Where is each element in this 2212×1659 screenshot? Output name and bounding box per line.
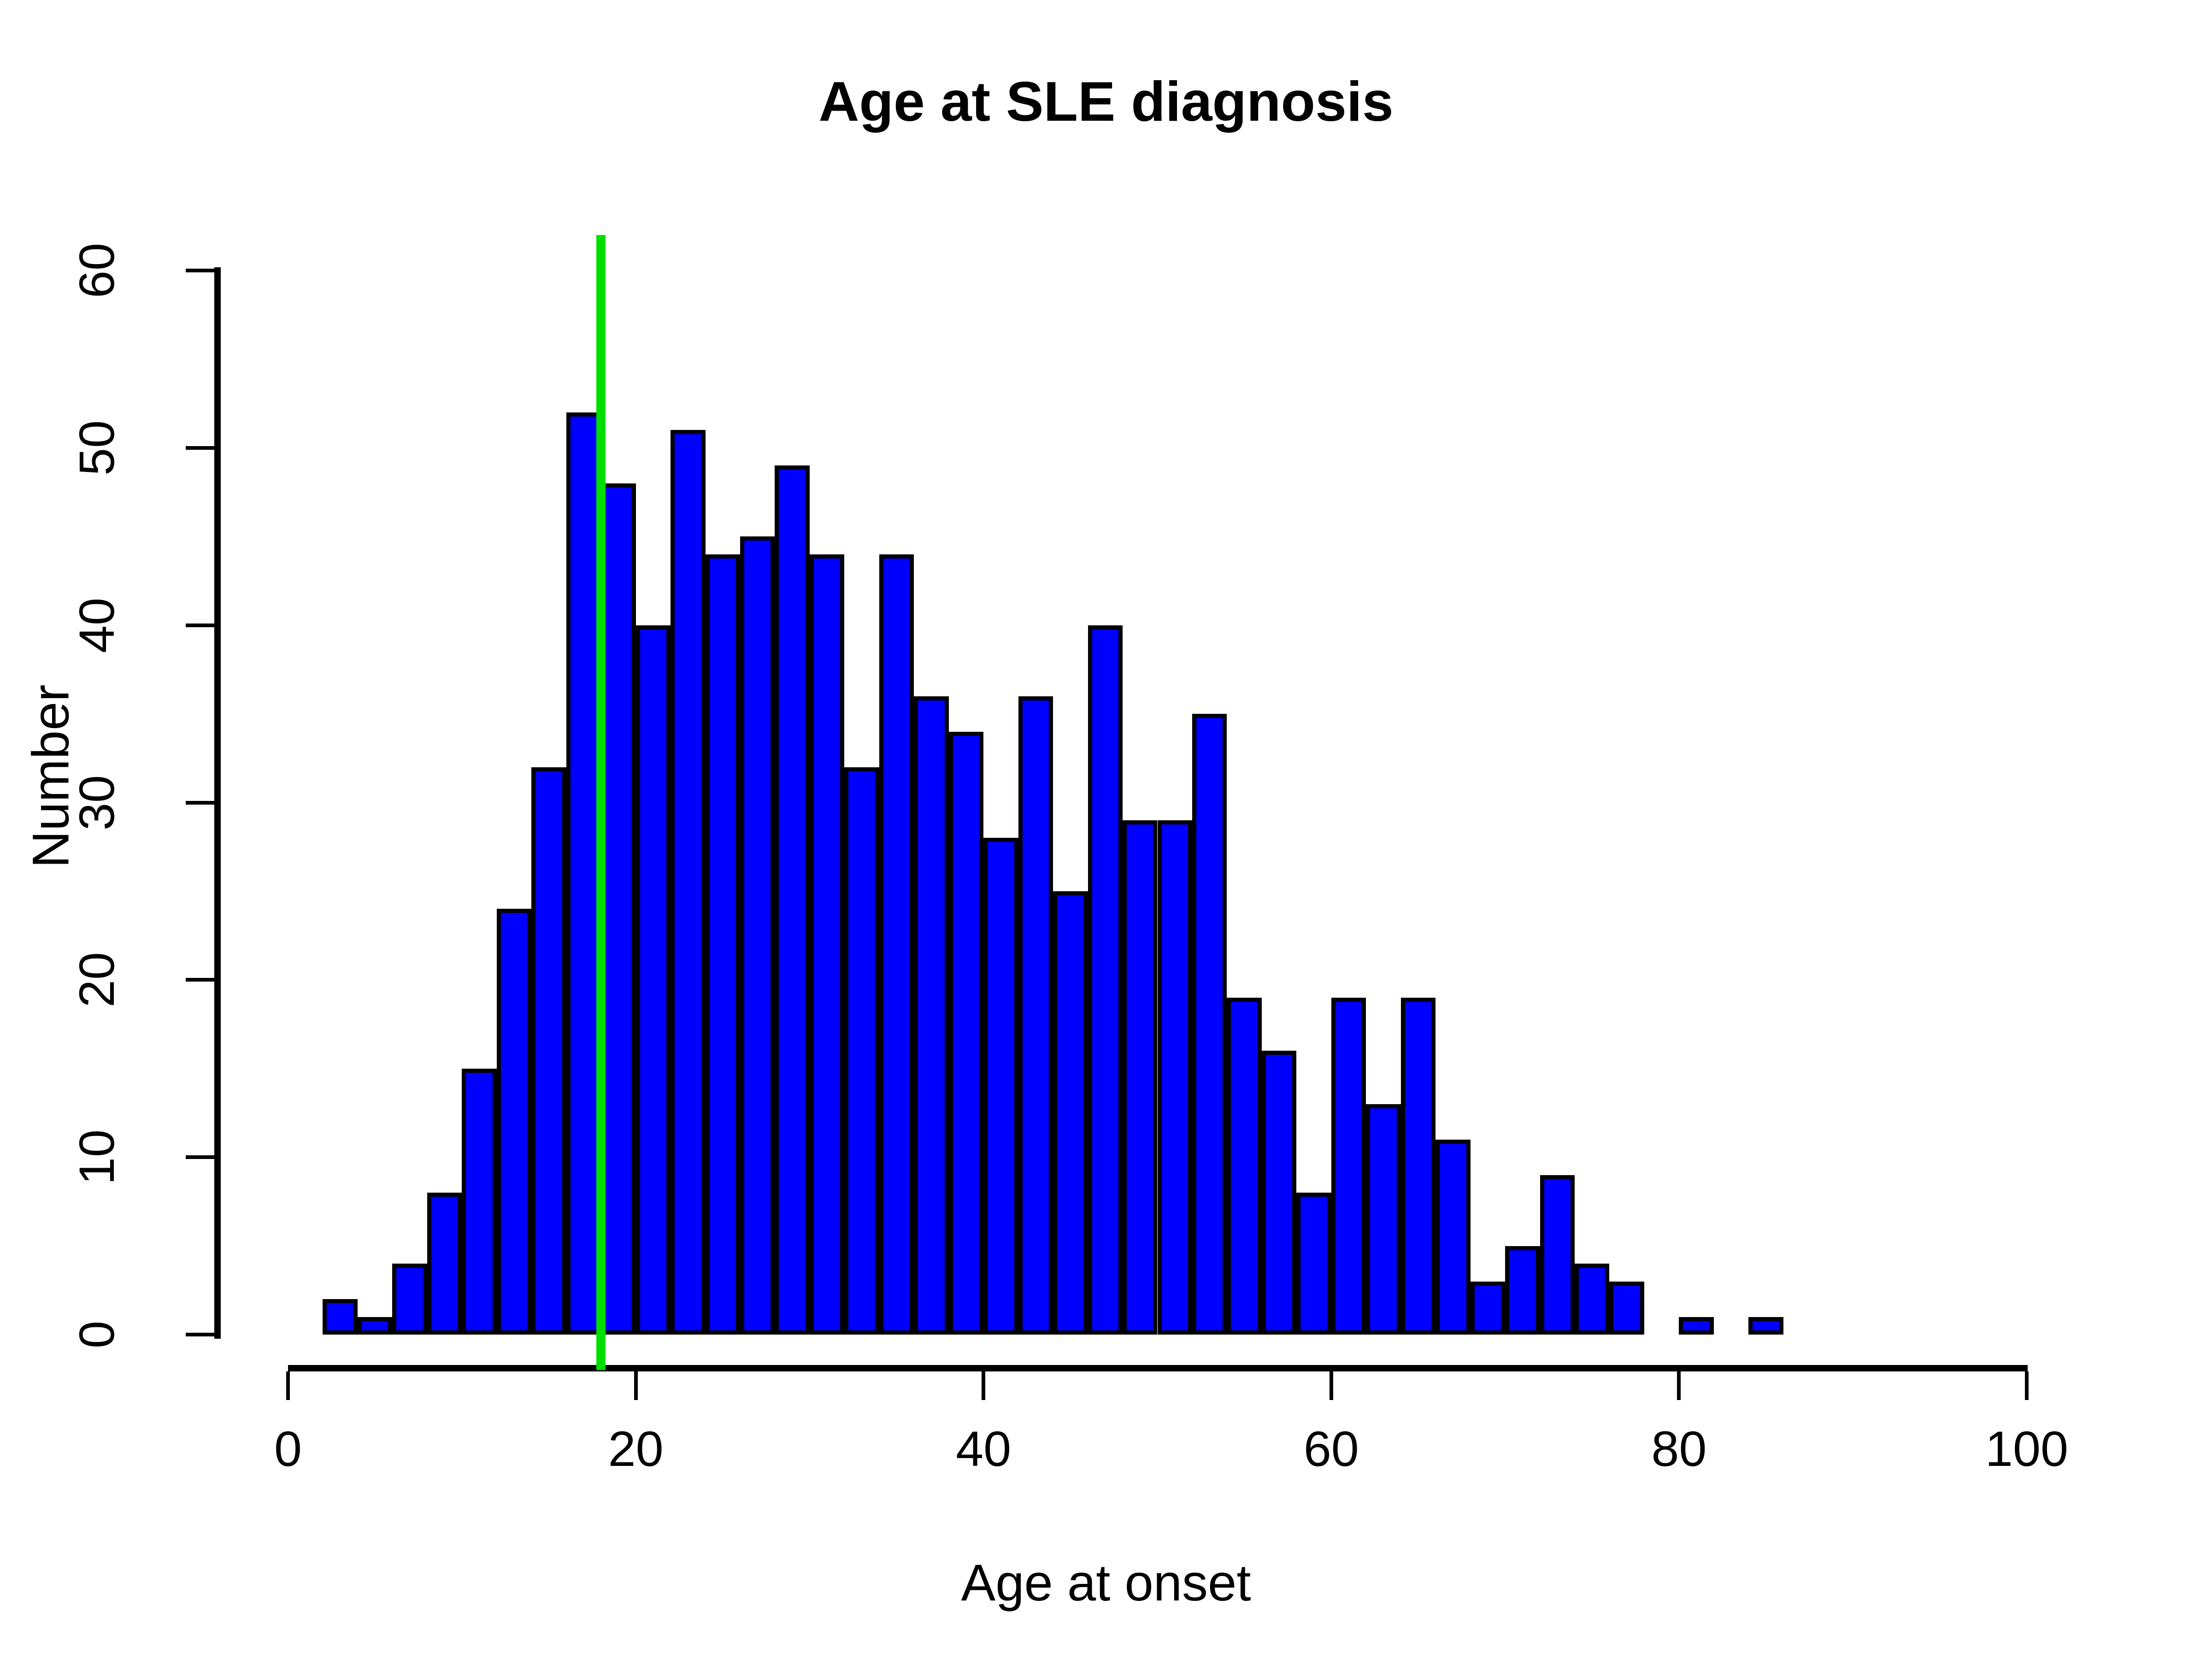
y-axis-title: Number <box>21 592 81 961</box>
histogram-bar <box>810 554 844 1335</box>
y-tick-label: 50 <box>69 379 124 517</box>
histogram-bar <box>706 554 740 1335</box>
y-tick-mark <box>186 978 214 982</box>
median-age-line <box>596 235 606 1370</box>
x-tick-label: 80 <box>1610 1424 1748 1474</box>
histogram-bar <box>879 554 914 1335</box>
y-axis-line <box>214 267 221 1339</box>
y-tick-mark <box>186 446 214 450</box>
x-tick-mark <box>634 1371 638 1400</box>
histogram-bar <box>1123 820 1157 1335</box>
y-tick-mark <box>186 1155 214 1159</box>
y-tick-label: 10 <box>69 1088 124 1226</box>
histogram-bar <box>1053 891 1088 1335</box>
y-tick-mark <box>186 269 214 272</box>
histogram-bar <box>1227 998 1261 1335</box>
histogram-bar <box>1575 1264 1609 1335</box>
plot-area: 020406080100 0102030405060 <box>0 0 2212 1659</box>
histogram-bar <box>1679 1317 1713 1335</box>
histogram-bar <box>844 767 879 1335</box>
x-tick-label: 100 <box>1958 1424 2096 1474</box>
histogram-bar <box>358 1317 392 1335</box>
histogram-bar <box>671 430 705 1335</box>
histogram-bar <box>601 483 635 1335</box>
histogram-bar <box>1748 1317 1783 1335</box>
histogram-bar <box>1366 1104 1400 1335</box>
histogram-bar <box>462 1069 496 1335</box>
y-tick-mark <box>186 801 214 805</box>
histogram-bar <box>1609 1282 1644 1335</box>
x-axis-title: Age at onset <box>0 1553 2212 1612</box>
histogram-bar <box>1192 714 1227 1335</box>
x-tick-mark <box>1330 1371 1333 1400</box>
histogram-bar <box>1296 1193 1331 1335</box>
x-tick-mark <box>2025 1371 2029 1400</box>
chart-canvas: Age at SLE diagnosis 020406080100 010203… <box>0 0 2212 1659</box>
histogram-bar <box>775 465 809 1335</box>
histogram-bar <box>1540 1175 1575 1335</box>
histogram-bar <box>636 625 671 1335</box>
y-tick-mark <box>186 624 214 627</box>
histogram-bar <box>949 732 983 1335</box>
x-tick-label: 0 <box>219 1424 357 1474</box>
y-tick-mark <box>186 1333 214 1336</box>
x-axis-line <box>288 1365 2028 1371</box>
x-tick-mark <box>982 1371 985 1400</box>
x-tick-label: 20 <box>567 1424 705 1474</box>
histogram-bar <box>531 767 566 1335</box>
histogram-bar <box>1435 1140 1470 1335</box>
histogram-bar <box>740 536 775 1335</box>
x-tick-label: 60 <box>1262 1424 1400 1474</box>
histogram-bar <box>1088 625 1123 1335</box>
histogram-bar <box>1331 998 1366 1335</box>
histogram-bar <box>1401 998 1435 1335</box>
x-tick-mark <box>286 1371 290 1400</box>
histogram-bar <box>1262 1051 1296 1335</box>
histogram-bar <box>427 1193 462 1335</box>
histogram-bar <box>1018 696 1053 1335</box>
y-tick-label: 0 <box>69 1265 124 1404</box>
histogram-bar <box>1158 820 1192 1335</box>
histogram-bar <box>323 1299 357 1335</box>
y-tick-label: 60 <box>69 201 124 340</box>
histogram-bar <box>566 412 601 1335</box>
histogram-bar <box>983 838 1018 1335</box>
histogram-bar <box>914 696 948 1335</box>
x-tick-mark <box>1677 1371 1681 1400</box>
histogram-bar <box>1471 1282 1505 1335</box>
histogram-bar <box>1505 1246 1540 1335</box>
histogram-bar <box>497 909 531 1335</box>
x-tick-label: 40 <box>914 1424 1053 1474</box>
histogram-bar <box>392 1264 427 1335</box>
